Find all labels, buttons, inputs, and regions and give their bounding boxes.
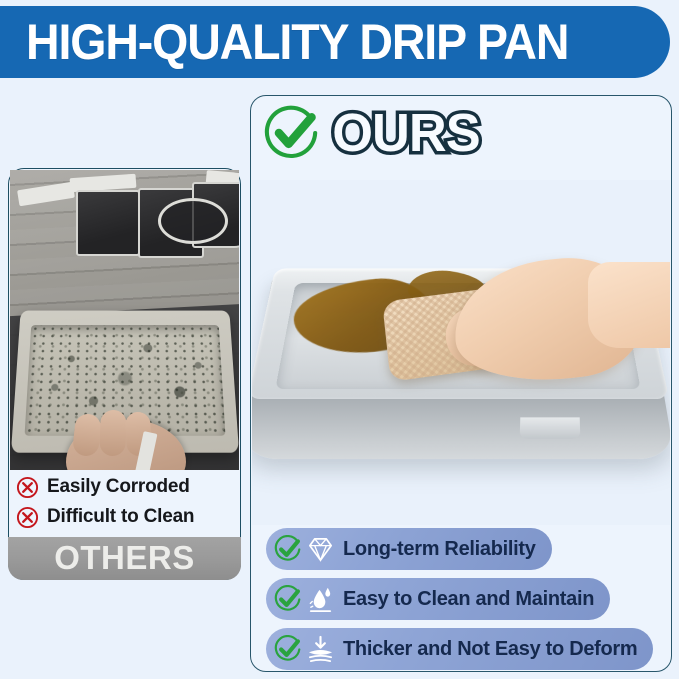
header-banner: HIGH-QUALITY DRIP PAN — [0, 6, 670, 78]
wrist — [588, 262, 670, 348]
feature-pill-thickness[interactable]: Thicker and Not Easy to Deform — [266, 628, 653, 670]
ours-product-photo — [252, 180, 670, 525]
container-rim — [158, 198, 228, 244]
thickness-arrow-icon — [305, 634, 336, 665]
infographic-root: HIGH-QUALITY DRIP PAN Easily Corr — [0, 0, 679, 679]
red-x-circle-icon — [16, 506, 39, 529]
green-check-circle-icon — [273, 585, 302, 614]
water-drop-icon — [305, 584, 336, 615]
green-check-circle-icon — [273, 635, 302, 664]
red-x-circle-icon — [16, 476, 39, 499]
green-check-circle-icon — [262, 104, 320, 162]
ours-header: OURS — [262, 100, 482, 166]
others-label: OTHERS — [54, 541, 195, 574]
feature-pill-reliability[interactable]: Long-term Reliability — [266, 528, 552, 570]
pan-handle-cutout — [520, 417, 581, 439]
others-product-photo — [10, 170, 239, 470]
finger — [99, 410, 127, 457]
list-item-label: Difficult to Clean — [47, 506, 194, 528]
green-check-circle-icon — [273, 535, 302, 564]
ours-label: OURS — [332, 106, 479, 160]
list-item: Easily Corroded — [16, 474, 241, 500]
feature-pill-easy-clean[interactable]: Easy to Clean and Maintain — [266, 578, 610, 620]
stainless-drip-pan — [258, 238, 660, 478]
diamond-icon — [305, 534, 336, 565]
list-item-label: Easily Corroded — [47, 476, 190, 498]
list-item: Difficult to Clean — [16, 504, 241, 530]
feature-label: Thicker and Not Easy to Deform — [343, 639, 637, 659]
others-label-bar: OTHERS — [8, 537, 241, 580]
others-bullet-list: Easily Corroded Difficult to Clean — [16, 474, 241, 534]
feature-label: Easy to Clean and Maintain — [343, 589, 594, 609]
page-title: HIGH-QUALITY DRIP PAN — [26, 17, 568, 67]
feature-label: Long-term Reliability — [343, 539, 536, 559]
black-container — [76, 190, 140, 256]
ours-feature-list: Long-term Reliability Easy to Clean and … — [266, 528, 653, 678]
